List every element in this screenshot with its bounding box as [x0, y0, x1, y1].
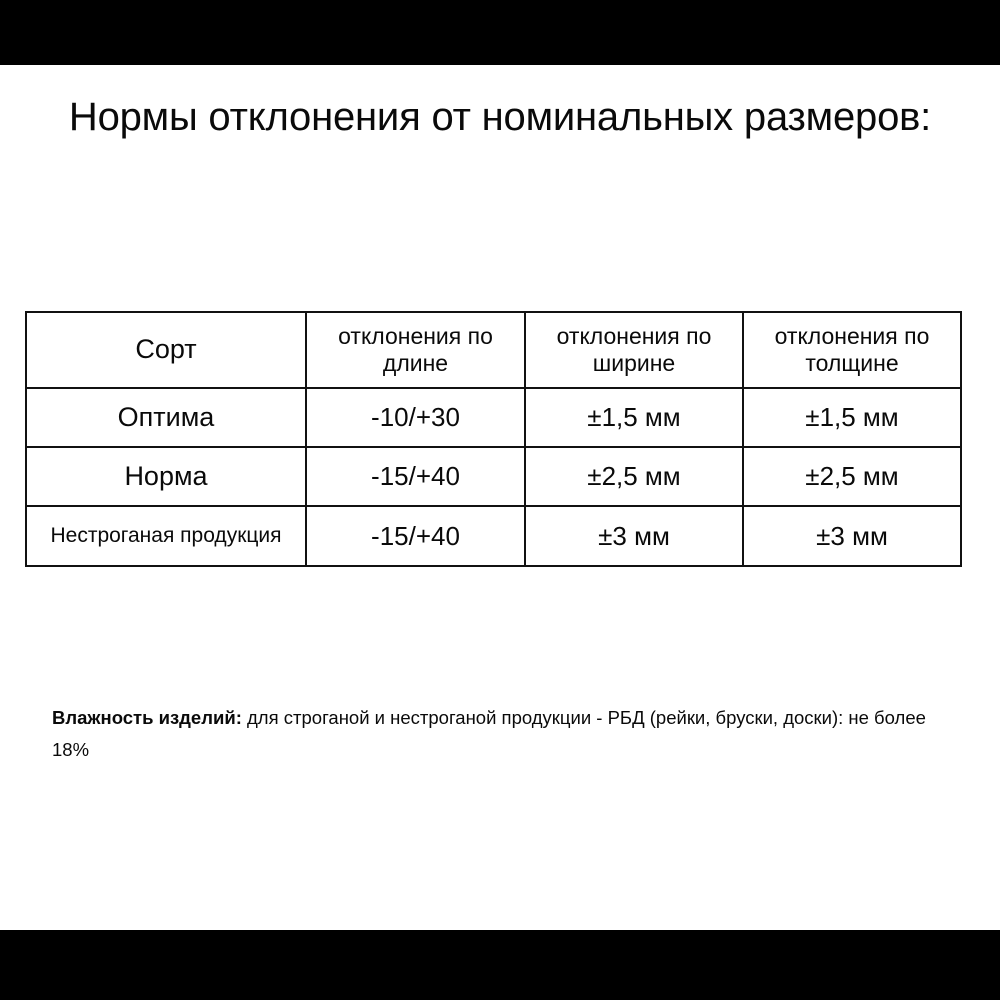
column-header-length: отклонения по длине [306, 312, 525, 388]
cell-thickness: ±2,5 мм [743, 447, 961, 506]
cell-width: ±2,5 мм [525, 447, 743, 506]
page-title: Нормы отклонения от номинальных размеров… [60, 90, 940, 144]
table-row: Нестроганая продукция -15/+40 ±3 мм ±3 м… [26, 506, 961, 566]
cell-length: -10/+30 [306, 388, 525, 447]
table-header-row: Сорт отклонения по длине отклонения по ш… [26, 312, 961, 388]
column-header-thickness: отклонения по толщине [743, 312, 961, 388]
cell-grade: Оптима [26, 388, 306, 447]
column-header-width: отклонения по ширине [525, 312, 743, 388]
cell-width: ±3 мм [525, 506, 743, 566]
cell-grade: Норма [26, 447, 306, 506]
deviation-norms-table: Сорт отклонения по длине отклонения по ш… [25, 311, 962, 567]
cell-width: ±1,5 мм [525, 388, 743, 447]
letterbox-bottom [0, 930, 1000, 1000]
cell-length: -15/+40 [306, 506, 525, 566]
letterbox-top [0, 0, 1000, 65]
cell-length: -15/+40 [306, 447, 525, 506]
table-row: Оптима -10/+30 ±1,5 мм ±1,5 мм [26, 388, 961, 447]
cell-thickness: ±1,5 мм [743, 388, 961, 447]
cell-grade: Нестроганая продукция [26, 506, 306, 566]
column-header-grade: Сорт [26, 312, 306, 388]
cell-thickness: ±3 мм [743, 506, 961, 566]
moisture-note: Влажность изделий: для строганой и нестр… [52, 702, 942, 767]
moisture-note-label: Влажность изделий: [52, 707, 242, 728]
table-row: Норма -15/+40 ±2,5 мм ±2,5 мм [26, 447, 961, 506]
